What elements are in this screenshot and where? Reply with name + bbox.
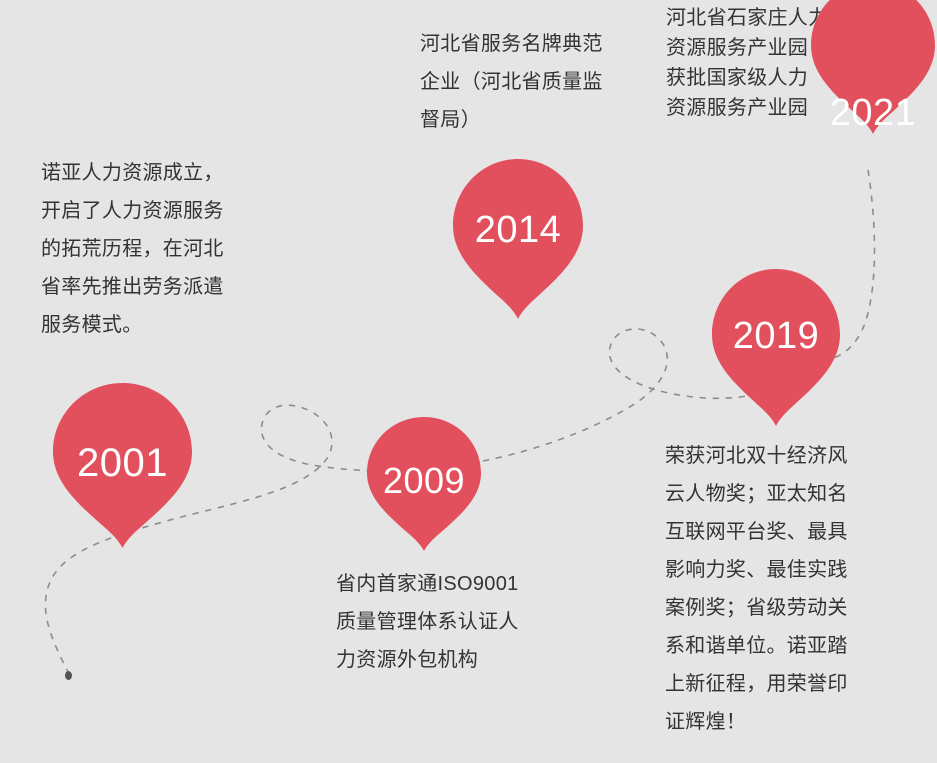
milestone-description-2014: 河北省服务名牌典范 企业（河北省质量监 督局）: [420, 25, 650, 139]
milestone-description-2019: 荣获河北双十经济风 云人物奖；亚太知名 互联网平台奖、最具 影响力奖、最佳实践 …: [665, 437, 910, 741]
pin-year-label-2019: 2019: [712, 317, 840, 355]
pin-year-label-2014: 2014: [453, 211, 583, 249]
map-pin-2014[interactable]: 2014: [453, 159, 583, 319]
map-pin-2021[interactable]: 2021: [811, 0, 935, 134]
timeline-infographic: 诺亚人力资源成立， 开启了人力资源服务 的拓荒历程，在河北 省率先推出劳务派遣 …: [0, 0, 937, 763]
milestone-description-2009: 省内首家通ISO9001 质量管理体系认证人 力资源外包机构: [336, 565, 586, 679]
milestone-description-2001: 诺亚人力资源成立， 开启了人力资源服务 的拓荒历程，在河北 省率先推出劳务派遣 …: [41, 154, 281, 344]
map-pin-2009[interactable]: 2009: [367, 417, 481, 551]
map-pin-2001[interactable]: 2001: [53, 383, 192, 548]
pin-year-label-2001: 2001: [53, 443, 192, 483]
pin-year-label-2009: 2009: [367, 463, 481, 499]
map-pin-2019[interactable]: 2019: [712, 269, 840, 426]
route-start-dot: [65, 671, 72, 680]
pin-year-label-2021: 2021: [811, 94, 935, 132]
